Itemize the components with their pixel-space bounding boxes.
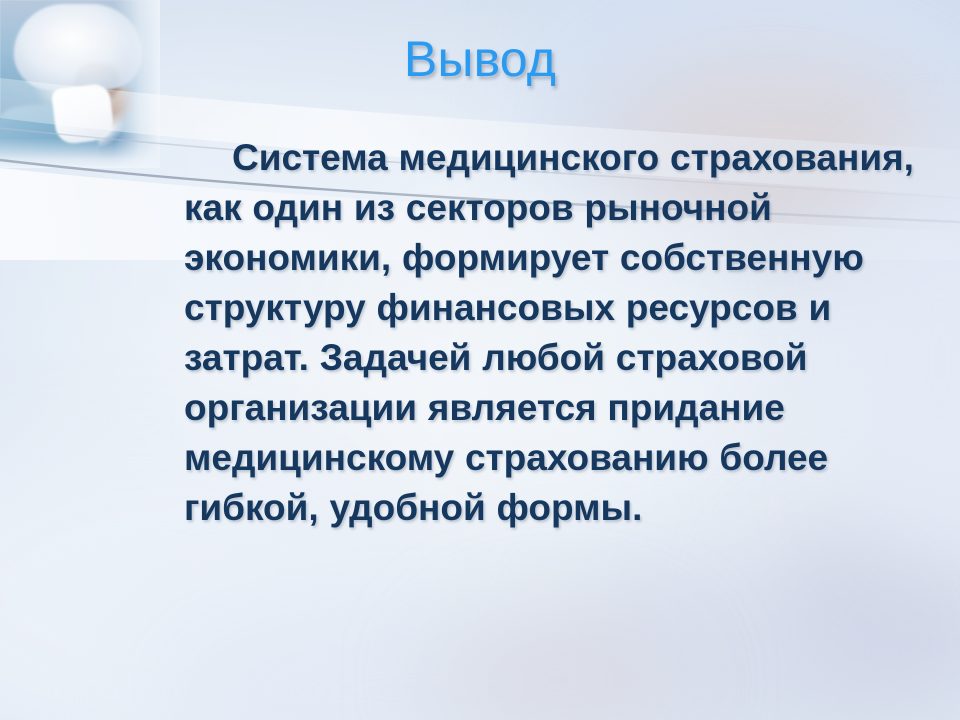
slide-body: Система медицинского страхования, как од… xyxy=(184,133,914,533)
slide-body-paragraph: Система медицинского страхования, как од… xyxy=(184,133,914,533)
photo-fade-bottom xyxy=(0,138,160,168)
slide-canvas: Вывод Система медицинского страхования, … xyxy=(0,0,960,720)
slide-title: Вывод xyxy=(0,32,960,87)
